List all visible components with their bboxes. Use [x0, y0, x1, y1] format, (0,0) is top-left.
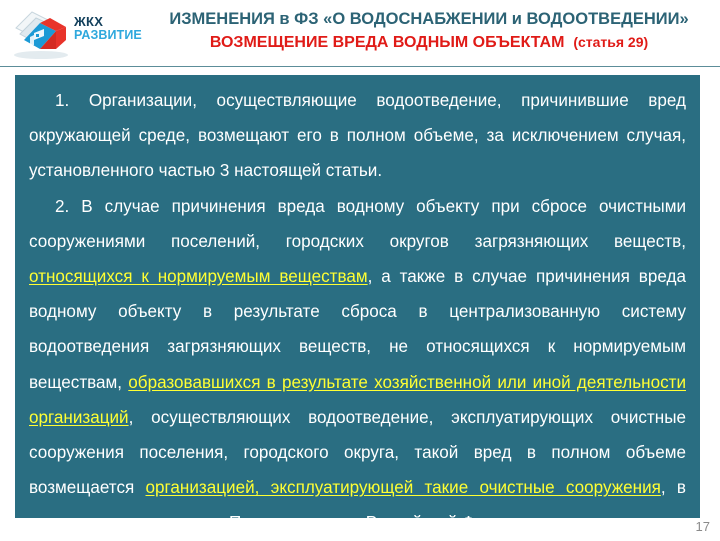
paragraph-2-number: 2.: [55, 197, 69, 216]
paragraph-1-text: Организации, осуществляющие водоотведени…: [29, 91, 686, 180]
title-article-reference: (статья 29): [573, 34, 648, 50]
legal-text-panel: 1. Организации, осуществляющие водоотвед…: [15, 75, 700, 518]
header-divider: [0, 66, 720, 67]
paragraph-1-number: 1.: [55, 91, 69, 110]
paragraph-2-segment-a: В случае причинения вреда водному объект…: [29, 197, 686, 251]
slide-title: ИЗМЕНЕНИЯ в ФЗ «О ВОДОСНАБЖЕНИИ и ВОДООТ…: [140, 8, 718, 54]
paragraph-2-highlight-organizatsiya: организацией, эксплуатирующей такие очис…: [146, 478, 661, 497]
title-line-primary: ИЗМЕНЕНИЯ в ФЗ «О ВОДОСНАБЖЕНИИ и ВОДООТ…: [140, 8, 718, 30]
legal-text-body: 1. Организации, осуществляющие водоотвед…: [29, 83, 686, 541]
paragraph-2-highlight-normirovannye: относящихся к нормируемым веществам: [29, 267, 368, 286]
brand-wordmark-line2: РАЗВИТИЕ: [74, 29, 140, 42]
brand-logo: ЖКХ РАЗВИТИЕ: [8, 4, 140, 62]
zhkh-razvitie-house-logo-icon: [10, 6, 72, 60]
title-subject: ВОЗМЕЩЕНИЕ ВРЕДА ВОДНЫМ ОБЪЕКТАМ: [210, 34, 565, 51]
page-number: 17: [696, 519, 710, 534]
slide-header: ЖКХ РАЗВИТИЕ ИЗМЕНЕНИЯ в ФЗ «О ВОДОСНАБЖ…: [0, 0, 720, 66]
brand-wordmark-line1: ЖКХ: [74, 15, 140, 28]
brand-wordmark: ЖКХ РАЗВИТИЕ: [74, 15, 140, 42]
title-line-secondary: ВОЗМЕЩЕНИЕ ВРЕДА ВОДНЫМ ОБЪЕКТАМ (статья…: [140, 31, 718, 54]
